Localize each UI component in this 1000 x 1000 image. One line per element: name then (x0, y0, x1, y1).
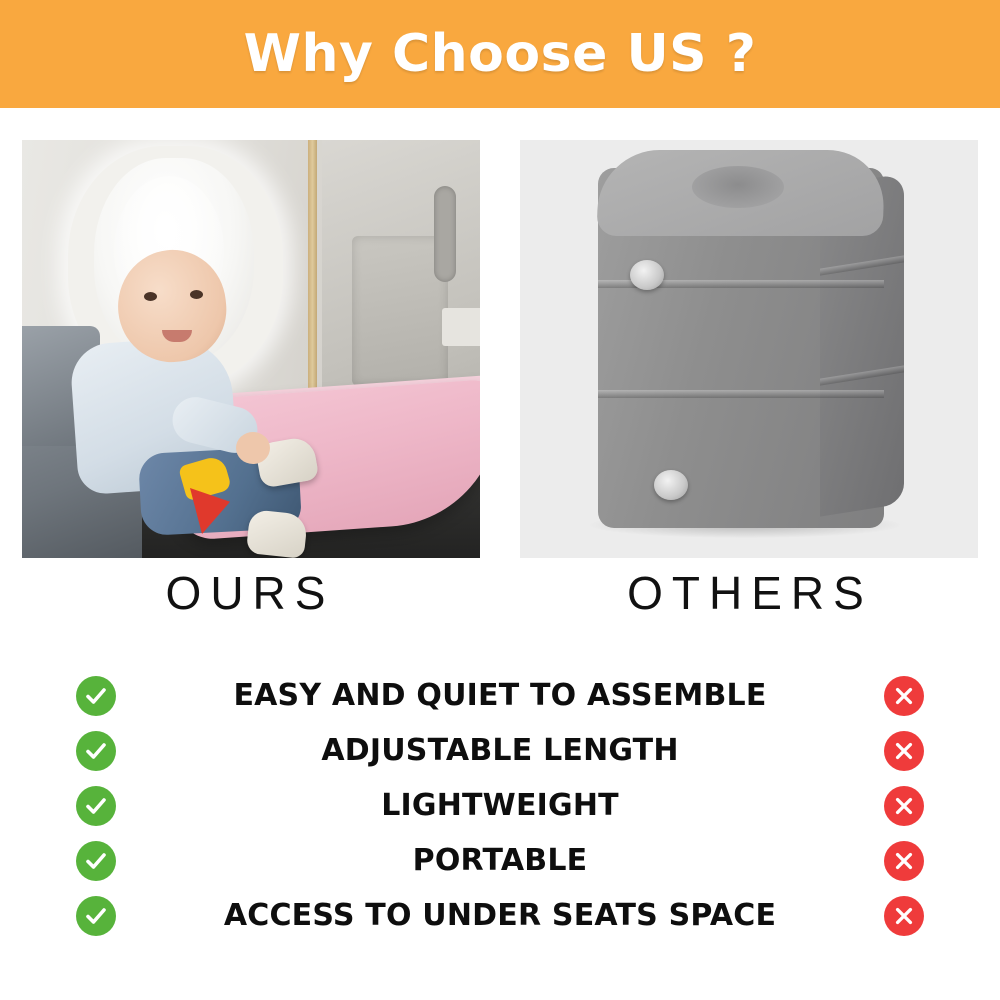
airplane-cabin-scene (22, 140, 480, 558)
baby-eye-right (190, 290, 203, 299)
why-choose-us-infographic: Why Choose US ? (0, 0, 1000, 1000)
baby-hand (236, 432, 270, 464)
feature-row: LIGHTWEIGHT (0, 778, 1000, 833)
check-icon (76, 786, 116, 826)
panel-labels: OURS OTHERS (0, 566, 1000, 640)
others-photo (520, 140, 978, 558)
feature-label: PORTABLE (0, 843, 1000, 878)
ours-panel (22, 140, 480, 558)
feature-row: ADJUSTABLE LENGTH (0, 723, 1000, 778)
cross-icon (884, 676, 924, 716)
others-panel (520, 140, 978, 558)
feature-list: EASY AND QUIET TO ASSEMBLE ADJUSTABLE LE… (0, 668, 1000, 943)
feature-label: ADJUSTABLE LENGTH (0, 733, 1000, 768)
bulkhead-handle (434, 186, 456, 282)
pillow-seam-lower (598, 390, 884, 398)
check-icon (76, 841, 116, 881)
header-banner: Why Choose US ? (0, 0, 1000, 108)
cross-icon (884, 896, 924, 936)
feature-label: EASY AND QUIET TO ASSEMBLE (0, 678, 1000, 713)
cross-icon (884, 786, 924, 826)
others-label: OTHERS (500, 566, 1000, 620)
feature-label: ACCESS TO UNDER SEATS SPACE (0, 898, 1000, 933)
feature-label: LIGHTWEIGHT (0, 788, 1000, 823)
ours-label: OURS (0, 566, 500, 620)
pillow-valve-lower (654, 470, 688, 500)
comparison-panels (0, 132, 1000, 562)
page-title: Why Choose US ? (244, 24, 757, 84)
pillow-valve-upper (630, 260, 664, 290)
feature-row: PORTABLE (0, 833, 1000, 888)
check-icon (76, 731, 116, 771)
baby-eye-left (144, 292, 157, 301)
inflatable-pillow-scene (520, 140, 978, 558)
check-icon (76, 676, 116, 716)
pillow-top-dimple (692, 166, 784, 208)
feature-row: EASY AND QUIET TO ASSEMBLE (0, 668, 1000, 723)
cross-icon (884, 841, 924, 881)
check-icon (76, 896, 116, 936)
feature-row: ACCESS TO UNDER SEATS SPACE (0, 888, 1000, 943)
bulkhead-label-plate (442, 308, 480, 346)
ours-photo (22, 140, 480, 558)
cross-icon (884, 731, 924, 771)
